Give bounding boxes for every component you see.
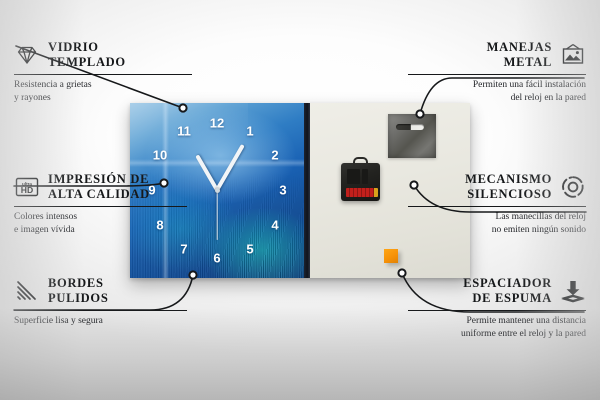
callout-rule bbox=[14, 74, 192, 75]
callout-description: Las manecillas del reloj no emiten ningú… bbox=[406, 211, 586, 237]
callout-description: Superficie lisa y segura bbox=[14, 315, 189, 328]
callout-title: MECANISMO SILENCIOSO bbox=[465, 172, 552, 202]
diamond-icon bbox=[14, 42, 40, 68]
callout-rule bbox=[408, 206, 586, 207]
callout-title: ESPACIADOR DE ESPUMA bbox=[463, 276, 552, 306]
callout-rule bbox=[14, 206, 187, 207]
clock-mechanism-box bbox=[341, 163, 380, 201]
callout-espaciador-de-espuma: ESPACIADOR DE ESPUMA Permite mantener un… bbox=[406, 276, 586, 341]
gear-icon bbox=[560, 174, 586, 200]
clock-numeral: 10 bbox=[153, 149, 167, 162]
clock-numeral: 4 bbox=[271, 219, 278, 232]
mechanism-hang-loop bbox=[353, 157, 368, 166]
clock-numeral: 5 bbox=[246, 243, 253, 256]
clock-numeral: 3 bbox=[279, 184, 286, 197]
callout-rule bbox=[408, 310, 586, 311]
clock-numeral: 1 bbox=[246, 125, 253, 138]
clock-numeral: 12 bbox=[210, 117, 224, 130]
callout-mecanismo-silencioso: MECANISMO SILENCIOSO Las manecilla bbox=[406, 172, 586, 237]
infographic-stage: 12 1 2 3 4 5 6 7 8 9 10 11 bbox=[0, 0, 600, 400]
clock-second-hand bbox=[216, 190, 217, 240]
ultra-hd-icon: ultra HD bbox=[14, 174, 40, 200]
svg-text:HD: HD bbox=[21, 185, 33, 195]
battery bbox=[346, 188, 374, 197]
callout-description: Permite mantener una distancia uniforme … bbox=[406, 315, 586, 341]
hanger-keyhole-slot bbox=[396, 124, 424, 130]
clock-numeral: 7 bbox=[180, 243, 187, 256]
clock-numeral: 6 bbox=[213, 252, 220, 265]
callout-rule bbox=[408, 74, 586, 75]
callout-rule bbox=[14, 310, 187, 311]
mechanism-slot-left bbox=[347, 169, 360, 184]
battery-terminal bbox=[374, 188, 378, 197]
callout-title: IMPRESIÓN DE ALTA CALIDAD bbox=[48, 172, 150, 202]
callout-title: MANEJAS METAL bbox=[487, 40, 552, 70]
callout-bordes-pulidos: BORDES PULIDOS Superficie lisa y segura bbox=[14, 276, 189, 328]
spacer-down-arrow-icon bbox=[560, 278, 586, 304]
picture-hanger-icon bbox=[560, 42, 586, 68]
callout-title: BORDES PULIDOS bbox=[48, 276, 108, 306]
foam-spacer-pad bbox=[384, 249, 398, 263]
callout-vidrio-templado: VIDRIO TEMPLADO Resistencia a grietas y … bbox=[14, 40, 194, 105]
callout-manejas-metal: MANEJAS METAL Permiten una fácil instala… bbox=[406, 40, 586, 105]
metal-hanger-plate bbox=[388, 114, 436, 158]
callout-description: Colores intensos e imagen vívida bbox=[14, 211, 189, 237]
mechanism-slot-right bbox=[362, 169, 368, 184]
callout-description: Resistencia a grietas y rayones bbox=[14, 79, 194, 105]
clock-center-cap bbox=[215, 188, 220, 193]
callout-description: Permiten una fácil instalación del reloj… bbox=[406, 79, 586, 105]
clock-numeral: 2 bbox=[271, 149, 278, 162]
polished-edge-icon bbox=[14, 278, 40, 304]
callout-impresion-alta-calidad: ultra HD IMPRESIÓN DE ALTA CALIDAD Color… bbox=[14, 172, 189, 237]
clock-numeral: 11 bbox=[177, 125, 191, 138]
callout-title: VIDRIO TEMPLADO bbox=[48, 40, 126, 70]
